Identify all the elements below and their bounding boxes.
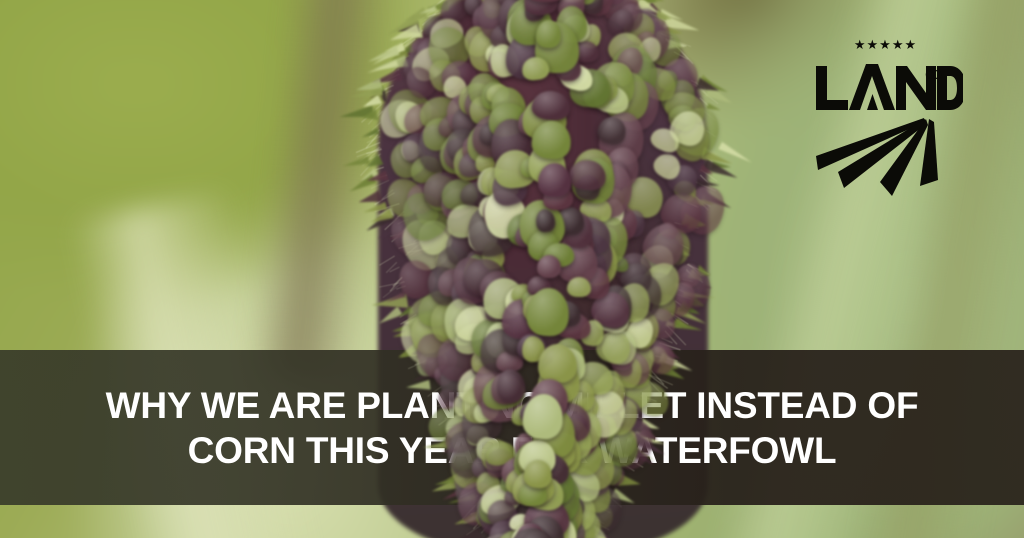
four-ray-fan-icon — [812, 116, 960, 202]
seed-bud — [537, 344, 577, 384]
five-stars-icon: ★★★★★ — [808, 38, 963, 52]
seed-bud — [567, 277, 591, 298]
brand-logo[interactable]: ★★★★★ co — [808, 38, 963, 203]
seed-bud — [535, 20, 561, 49]
logo-wordmark: co — [808, 60, 963, 116]
banner-canvas: ★★★★★ co WHY WE — [0, 0, 1024, 538]
logo-suffix: co — [925, 64, 941, 84]
